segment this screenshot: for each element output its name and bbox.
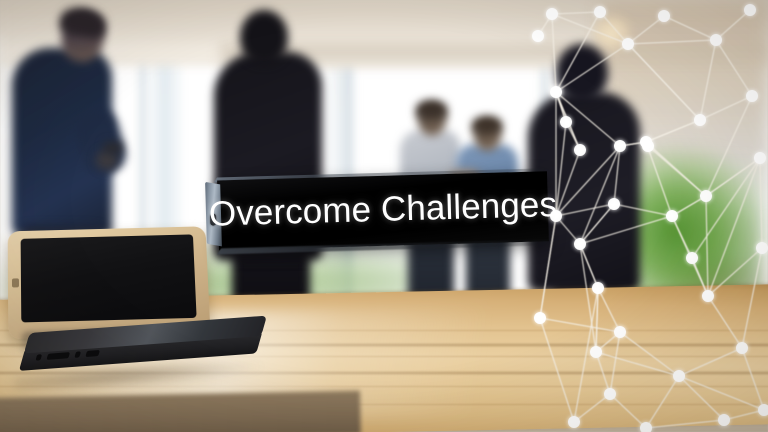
network-edge <box>724 410 764 420</box>
network-edge <box>574 394 610 422</box>
network-edge <box>700 96 752 120</box>
network-edge <box>628 16 664 44</box>
network-node <box>756 242 768 254</box>
network-edge <box>580 146 620 244</box>
network-edge <box>646 420 724 428</box>
network-edge <box>628 44 700 120</box>
network-node <box>754 152 766 164</box>
network-node <box>744 4 756 16</box>
network-edge <box>708 158 760 296</box>
network-node <box>574 238 586 250</box>
network-edge <box>692 158 760 258</box>
network-edge <box>540 318 574 422</box>
network-edge <box>580 244 596 352</box>
network-edge <box>552 14 556 92</box>
network-node <box>546 8 558 20</box>
network-edge <box>716 10 750 40</box>
network-node <box>658 10 670 22</box>
network-node <box>594 6 606 18</box>
network-node <box>534 312 546 324</box>
network-node <box>736 342 748 354</box>
network-edge <box>614 204 672 216</box>
network-edge <box>552 12 600 14</box>
network-node <box>604 388 616 400</box>
network-node <box>550 210 562 222</box>
network-node <box>622 38 634 50</box>
network-edge <box>664 16 716 40</box>
network-node <box>592 282 604 294</box>
network-node <box>686 252 698 264</box>
network-node <box>758 404 768 416</box>
network-node <box>702 290 714 302</box>
network-edge <box>610 394 646 428</box>
network-edge <box>716 40 752 96</box>
network-edge <box>760 158 762 248</box>
network-node <box>694 114 706 126</box>
network-edge <box>540 318 620 332</box>
network-edge <box>556 44 628 92</box>
network-node <box>568 416 580 428</box>
network-node <box>666 210 678 222</box>
network-edge <box>742 348 764 410</box>
network-edge <box>596 352 610 394</box>
network-edge <box>620 332 679 376</box>
network-edge <box>580 216 672 244</box>
network-node <box>642 140 654 152</box>
network-edge <box>700 40 716 120</box>
network-graph-overlay <box>0 0 768 432</box>
network-edge <box>552 14 628 44</box>
network-node <box>560 116 572 128</box>
network-edge <box>679 348 742 376</box>
network-node <box>700 190 712 202</box>
network-edge <box>598 288 620 332</box>
network-edge <box>540 216 556 318</box>
network-edges <box>538 10 764 428</box>
network-node <box>532 30 544 42</box>
network-node <box>590 346 602 358</box>
network-edge <box>646 376 679 428</box>
network-edge <box>708 296 742 348</box>
network-edge <box>706 196 708 296</box>
network-edge <box>646 120 700 142</box>
network-edge <box>628 40 716 44</box>
network-node <box>614 140 626 152</box>
network-node <box>673 370 685 382</box>
network-edge <box>600 12 628 44</box>
network-edge <box>692 258 708 296</box>
network-edge <box>610 332 620 394</box>
network-edge <box>679 376 724 420</box>
network-node <box>574 144 586 156</box>
network-node <box>746 90 758 102</box>
scene-image: Overcome Challenges <box>0 0 768 432</box>
network-node <box>550 86 562 98</box>
network-edge <box>596 352 679 376</box>
network-node <box>718 414 730 426</box>
network-node <box>608 198 620 210</box>
network-edge <box>672 216 692 258</box>
network-node <box>614 326 626 338</box>
network-edge <box>679 376 764 410</box>
network-node <box>710 34 722 46</box>
